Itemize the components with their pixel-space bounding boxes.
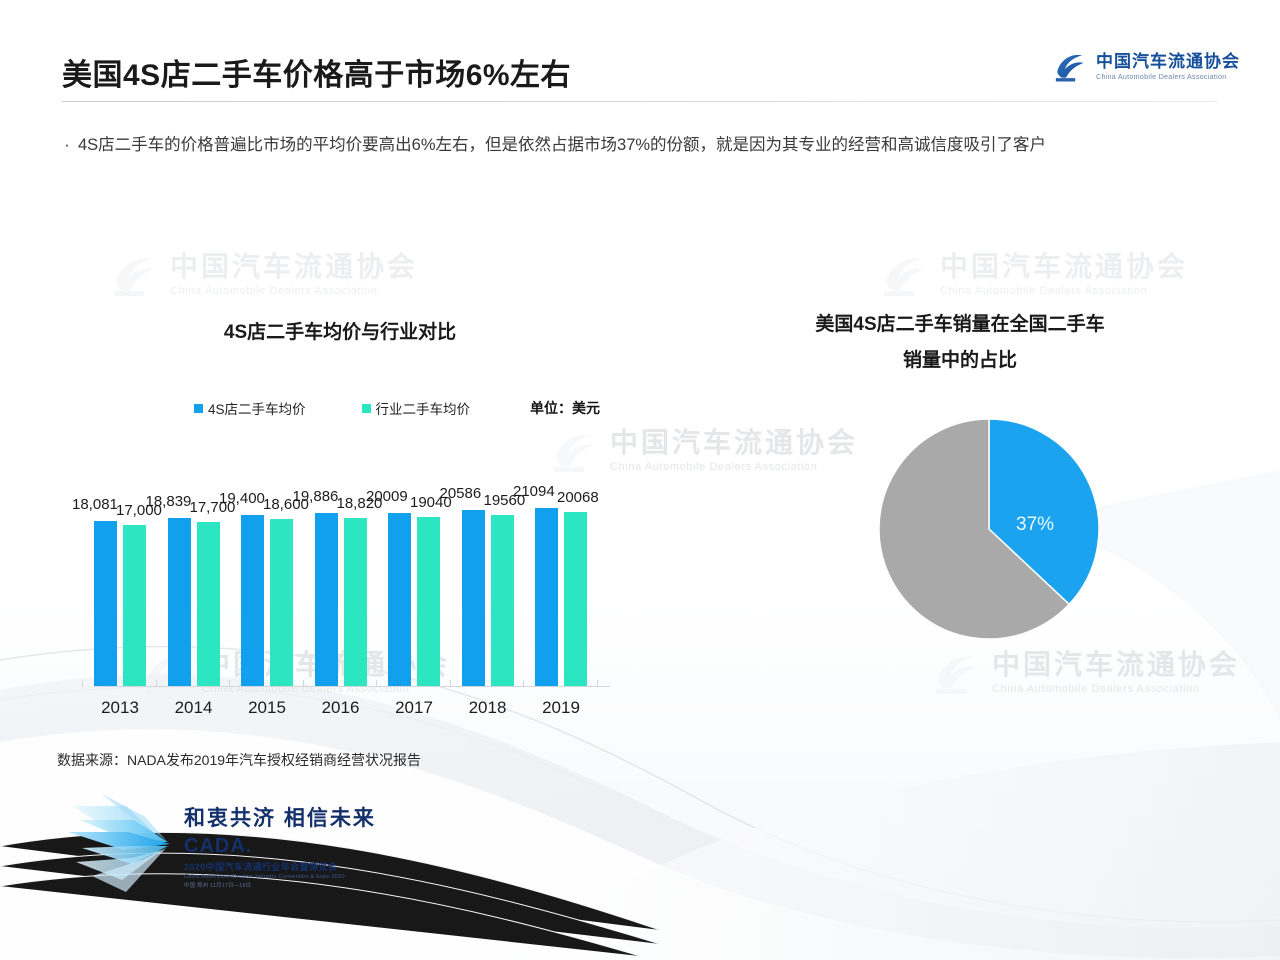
bar-series-0: [315, 513, 338, 686]
bar-series-0: [94, 521, 117, 686]
bullet-text: 4S店二手车的价格普遍比市场的平均价要高出6%左右，但是依然占据市场37%的份额…: [78, 128, 1224, 162]
x-axis-tick: [82, 680, 83, 687]
legend-item-series-1: 行业二手车均价: [362, 398, 471, 418]
x-axis-tick: [303, 680, 304, 687]
x-axis-label: 2013: [85, 698, 155, 718]
pie-chart-title-line2: 销量中的占比: [660, 346, 1260, 376]
watermark-cn: 中国汽车流通协会: [170, 253, 418, 281]
x-axis-tick: [376, 680, 377, 687]
bar-value-label: 20586: [440, 485, 482, 502]
bar-series-1: [270, 519, 293, 686]
slide-root: 中国汽车流通协会 China Automobile Dealers Associ…: [0, 0, 1280, 960]
x-axis-label: 2019: [526, 698, 596, 718]
bar-value-label: 19,400: [219, 490, 265, 507]
legend-item-series-0: 4S店二手车均价: [194, 398, 306, 418]
bar-series-1: [564, 512, 587, 686]
brand-name-en: China Automobile Dealers Association: [1096, 73, 1240, 80]
event-logo: 和衷共济 相信未来 CADA. 2020中国汽车流通行业年会暨博览会 China…: [66, 788, 366, 898]
bar-series-0: [462, 510, 485, 686]
arrow-burst-icon: [66, 788, 198, 898]
bar-chart-panel: 4S店二手车均价与行业对比 4S店二手车均价 行业二手车均价 单位：美元 18,…: [30, 318, 650, 738]
x-axis-tick: [597, 680, 598, 687]
event-subtitle-en: China Automobile Dealers Industry Conven…: [184, 873, 376, 881]
cada-logo-icon: [108, 252, 160, 298]
pie-chart-graphic: 37%: [878, 418, 1100, 640]
bar-series-1: [491, 515, 514, 686]
bar-series-0: [241, 515, 264, 686]
legend-swatch-icon: [362, 404, 371, 413]
bar-value-label: 21094: [513, 483, 555, 500]
bar-value-label: 18,839: [146, 493, 192, 510]
event-slogan: 和衷共济 相信未来: [184, 808, 376, 829]
event-subtitle-cn: 2020中国汽车流通行业年会暨博览会: [184, 861, 376, 873]
bar-chart-title: 4S店二手车均价与行业对比: [30, 318, 650, 348]
x-axis-line: [94, 686, 610, 687]
bullet-marker-icon: ·: [56, 128, 78, 162]
x-axis-label: 2017: [379, 698, 449, 718]
x-axis-tick: [523, 680, 524, 687]
legend-label: 4S店二手车均价: [208, 398, 306, 418]
source-note: 数据来源：NADA发布2019年汽车授权经销商经营状况报告: [57, 750, 421, 770]
event-venue: 中国·郑州 11月17日—19日: [184, 882, 376, 891]
event-brand: CADA.: [184, 836, 376, 856]
bar-series-1: [197, 522, 220, 686]
title-divider: [62, 101, 1218, 102]
watermark-cn: 中国汽车流通协会: [940, 253, 1188, 281]
watermark: 中国汽车流通协会 China Automobile Dealers Associ…: [878, 252, 1188, 298]
bar-series-1: [123, 525, 146, 686]
bar-value-label: 19,886: [293, 488, 339, 505]
watermark-en: China Automobile Dealers Association: [170, 285, 418, 297]
x-axis-label: 2016: [306, 698, 376, 718]
bar-chart-plot: 18,08117,000201318,83917,700201419,40018…: [66, 436, 626, 686]
x-axis-tick: [156, 680, 157, 687]
pie-slice-label: 37%: [1016, 514, 1054, 536]
x-axis-tick: [450, 680, 451, 687]
event-logo-text: 和衷共济 相信未来 CADA. 2020中国汽车流通行业年会暨博览会 China…: [184, 808, 376, 890]
legend-swatch-icon: [194, 404, 203, 413]
x-axis-label: 2018: [453, 698, 523, 718]
bar-series-0: [388, 513, 411, 686]
legend-label: 行业二手车均价: [376, 398, 471, 418]
chart-unit-label: 单位：美元: [530, 398, 600, 418]
x-axis-label: 2015: [232, 698, 302, 718]
bullet-list: · 4S店二手车的价格普遍比市场的平均价要高出6%左右，但是依然占据市场37%的…: [56, 128, 1224, 162]
x-axis-label: 2014: [159, 698, 229, 718]
cada-logo-icon: [1051, 50, 1087, 84]
bar-value-label: 20009: [366, 488, 408, 505]
bar-value-label: 18,081: [72, 496, 118, 513]
brand-name-cn: 中国汽车流通协会: [1096, 53, 1240, 70]
pie-chart-title-line1: 美国4S店二手车销量在全国二手车: [660, 310, 1260, 340]
watermark: 中国汽车流通协会 China Automobile Dealers Associ…: [108, 252, 418, 298]
bar-value-label: 20068: [557, 489, 599, 506]
list-item: · 4S店二手车的价格普遍比市场的平均价要高出6%左右，但是依然占据市场37%的…: [56, 128, 1224, 162]
bar-chart-legend: 4S店二手车均价 行业二手车均价 单位：美元: [30, 398, 650, 418]
pie-chart-panel: 美国4S店二手车销量在全国二手车 销量中的占比 37%: [660, 310, 1260, 730]
cada-logo-icon: [878, 252, 930, 298]
pie-svg: [878, 418, 1100, 640]
watermark-en: China Automobile Dealers Association: [940, 285, 1188, 297]
bar-series-1: [417, 517, 440, 686]
brand-logo: 中国汽车流通协会 China Automobile Dealers Associ…: [1051, 50, 1240, 84]
slide-header: 美国4S店二手车价格高于市场6%左右 中国汽车流通协会 China Automo…: [0, 0, 1280, 118]
page-title: 美国4S店二手车价格高于市场6%左右: [62, 50, 571, 94]
bar-series-0: [168, 518, 191, 686]
bar-series-0: [535, 508, 558, 686]
x-axis-tick: [229, 680, 230, 687]
bar-series-1: [344, 518, 367, 686]
